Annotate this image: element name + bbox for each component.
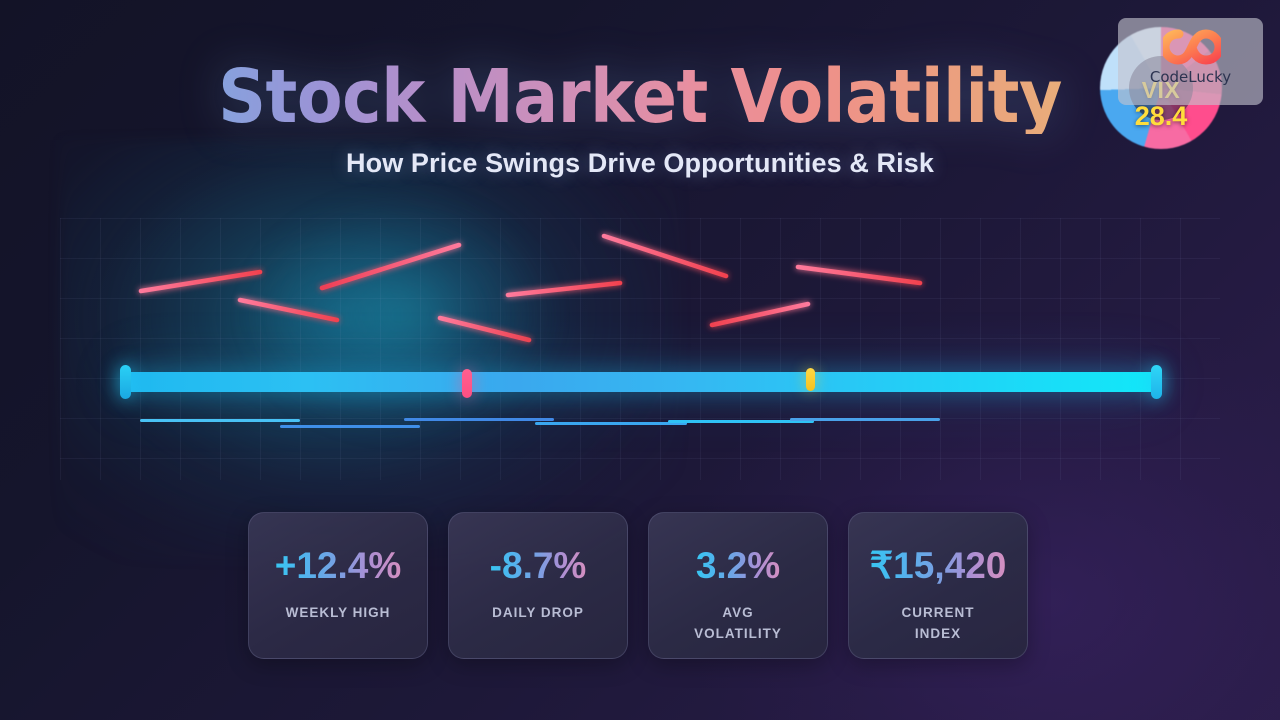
trend-line [712,304,808,325]
current-marker[interactable] [462,369,472,398]
stat-card[interactable]: +12.4%WEEKLY HIGH [248,512,428,659]
tick-line [280,425,420,428]
teal-glow-backdrop [60,140,680,560]
infographic-canvas: Stock Market Volatility How Price Swings… [0,0,1280,720]
stat-card-value: ₹15,420 [870,547,1007,584]
tick-line [535,422,687,425]
background-grid [60,218,1220,480]
stat-card-label: AVGVOLATILITY [694,603,782,645]
stat-card-value: 3.2% [696,547,780,584]
volatility-bar-track[interactable] [122,372,1158,392]
page-title: Stock Market Volatility [0,60,1280,134]
stat-card-value: +12.4% [275,547,402,584]
stat-card-value: -8.7% [490,547,587,584]
stat-card[interactable]: ₹15,420CURRENTINDEX [848,512,1028,659]
tick-line [790,418,940,421]
stat-card[interactable]: -8.7%DAILY DROP [448,512,628,659]
trend-line [240,300,337,320]
stat-card-label: WEEKLY HIGH [286,603,391,624]
stat-cards-row: +12.4%WEEKLY HIGH-8.7%DAILY DROP3.2%AVGV… [248,512,1028,659]
trend-line [141,272,260,291]
stat-card-label: CURRENTINDEX [902,603,975,645]
infinity-leaf-icon [1163,26,1221,70]
watermark-brand: CodeLucky [1118,68,1263,86]
trend-line [798,267,920,283]
page-subtitle: How Price Swings Drive Opportunities & R… [0,148,1280,179]
stat-card[interactable]: 3.2%AVGVOLATILITY [648,512,828,659]
threshold-marker[interactable] [806,368,815,391]
tick-line [140,419,300,422]
range-low-cap[interactable] [120,365,131,399]
vix-gauge-value: 28.4 [1100,101,1222,132]
trend-line [322,245,459,288]
trend-line [440,318,529,340]
tick-line [404,418,554,421]
range-high-cap[interactable] [1151,365,1162,399]
stat-card-label: DAILY DROP [492,603,584,624]
teal-glow-core [250,200,550,430]
trend-line [604,236,726,276]
trend-line [508,283,620,295]
